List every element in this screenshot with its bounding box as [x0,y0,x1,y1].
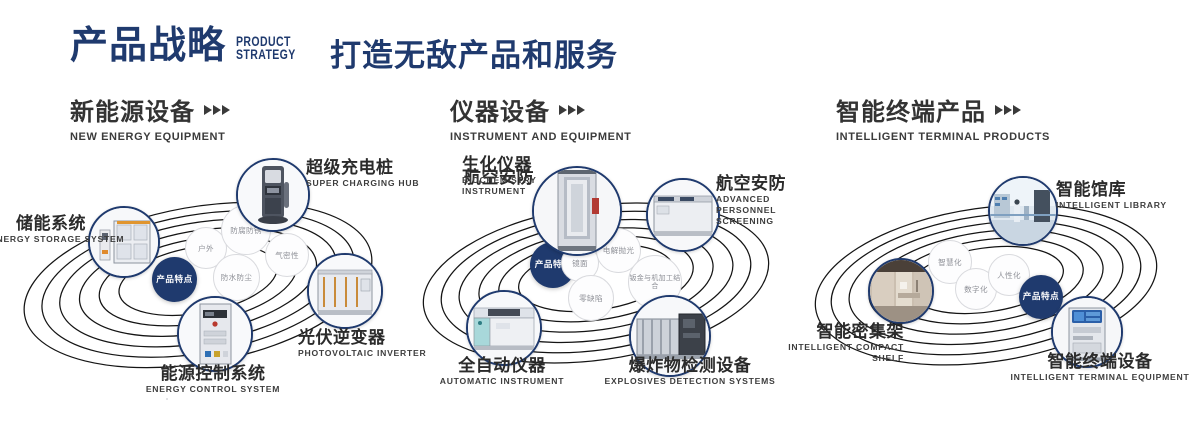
section-title-cn: 仪器设备 [450,92,550,127]
node-label-intelligent-terminal-equipment: 智能终端设备 INTELLIGENT TERMINAL EQUIPMENT [1000,352,1200,383]
feature-bubble-zero-defect: 零缺陷 [568,275,614,321]
page-title: 产品战略 [70,26,226,64]
node-label-intelligent-library: 智能馆库 INTELLIGENT LIBRARY [1056,180,1167,211]
section-title-en: NEW ENERGY EQUIPMENT [70,131,230,143]
section-header-intelligent-terminal: 智能终端产品 INTELLIGENT TERMINAL PRODUCTS [836,92,1050,143]
node-label-automatic-instrument: 全自动仪器 AUTOMATIC INSTRUMENT [412,356,592,387]
product-strategy-infographic: 产品战略 PRODUCT STRATEGY 打造无敌产品和服务 新能源设备 NE… [0,0,1200,422]
page-header: 产品战略 PRODUCT STRATEGY 打造无敌产品和服务 [0,0,1200,92]
node-intelligent-compact-shelf[interactable] [868,258,934,324]
library-room-photo-icon [990,178,1056,244]
headline: 打造无敌产品和服务 [330,30,618,75]
node-label-advanced-screening: 航空安防 ADVANCED PERSONNEL SCREENING [716,174,800,227]
chevron-right-icon [559,105,585,115]
screening-machine-icon [648,180,718,250]
section-title-cn: 新能源设备 [70,92,195,127]
node-label-energy-control: 能源控制系统 ENERGY CONTROL SYSTEM [88,364,338,395]
feature-bubble-waterproof: 防水防尘 [213,254,260,301]
node-energy-control[interactable] [177,296,253,372]
brand-block: 产品战略 PRODUCT STRATEGY [70,26,313,64]
section-title-en: INSTRUMENT AND EQUIPMENT [450,131,631,143]
feature-spacer [166,398,168,400]
page-title-en: PRODUCT STRATEGY [236,35,296,64]
section-title-cn: 智能终端产品 [836,92,986,127]
compact-shelf-photo-icon [870,260,932,322]
charging-pile-icon [238,160,308,230]
feature-bubble-airtight: 气密性 [265,233,309,277]
section-header-new-energy: 新能源设备 NEW ENERGY EQUIPMENT [70,92,230,143]
cluster-instrument: 产品特点 镜面 电解抛光 零缺陷 钣金与机加工结合 [400,150,800,422]
core-badge: 产品特点 [152,257,197,302]
brand-en-line2: STRATEGY [236,48,296,61]
node-label-energy-storage: 储能系统 ENERGY STORAGE SYSTEM [0,214,86,245]
chevron-right-icon [995,105,1021,115]
cluster-new-energy: 产品特点 户外 防腐防锈 防水防尘 气密性 [0,150,400,422]
automatic-analyzer-icon [468,292,540,364]
chevron-right-icon [204,105,230,115]
node-charging-pile[interactable] [236,158,310,232]
cluster-intelligent-terminal: 智慧化 数字化 人性化 产品特点 [800,150,1200,422]
node-intelligent-library[interactable] [988,176,1058,246]
node-label-intelligent-compact-shelf: 智能密集架 INTELLIGENT COMPACT SHELF [762,322,904,364]
section-header-instrument: 仪器设备 INSTRUMENT AND EQUIPMENT [450,92,631,143]
node-label-biochemistry: 生化仪器 BIOCHEMISTRY INSTRUMENT [462,155,548,197]
node-automatic-instrument[interactable] [466,290,542,366]
node-advanced-screening[interactable] [646,178,720,252]
pv-inverter-cabinet-icon [309,255,381,327]
section-title-en: INTELLIGENT TERMINAL PRODUCTS [836,131,1050,143]
node-pv-inverter[interactable] [307,253,383,329]
control-cabinet-icon [179,298,251,370]
